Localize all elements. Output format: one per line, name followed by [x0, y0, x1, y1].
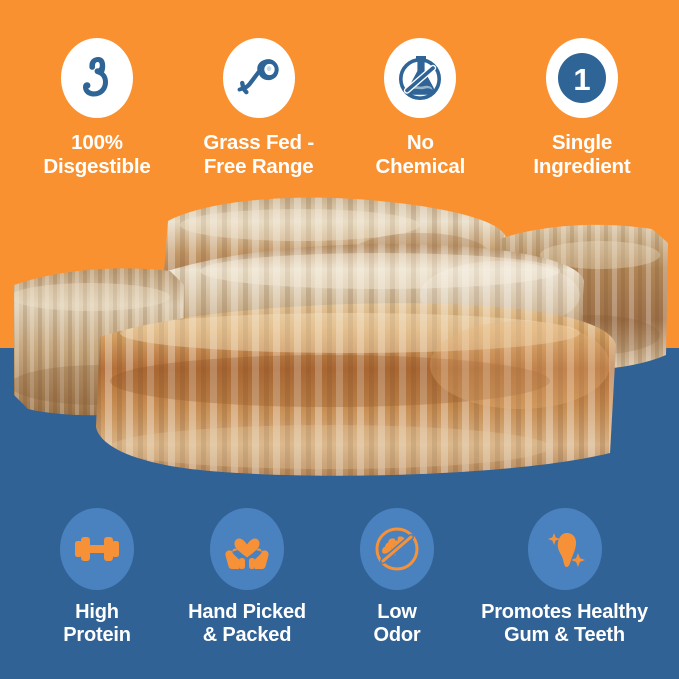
feature-label: Single Ingredient	[533, 131, 630, 179]
product-photo	[0, 185, 679, 505]
hands-heart-icon	[223, 526, 271, 572]
feature-no-chemical: No Chemical	[345, 38, 495, 179]
feature-hand-picked: Hand Picked & Packed	[172, 508, 322, 648]
stomach-icon	[75, 55, 119, 101]
ham-meat-icon	[236, 56, 282, 100]
badge-circle-blue	[210, 508, 284, 590]
feature-label: High Protein	[63, 601, 131, 648]
no-grain-odor-icon	[372, 524, 422, 574]
badge-circle-white	[223, 38, 295, 118]
feature-low-odor: Low Odor	[322, 508, 472, 648]
feature-label: Promotes Healthy Gum & Teeth	[481, 601, 648, 648]
feature-label: Hand Picked & Packed	[188, 601, 306, 648]
feature-high-protein: High Protein	[22, 508, 172, 648]
no-chemical-flask-icon	[397, 54, 443, 102]
feature-label: 100% Disgestible	[43, 131, 150, 179]
feature-label: No Chemical	[376, 131, 466, 179]
dumbbell-icon	[73, 532, 121, 566]
feature-digestible: 100% Disgestible	[22, 38, 172, 179]
chews-illustration	[0, 185, 679, 505]
feature-single-ingredient: 1 Single Ingredient	[507, 38, 657, 179]
badge-circle-white	[61, 38, 133, 118]
feature-label: Grass Fed - Free Range	[203, 131, 314, 179]
badge-circle-white	[384, 38, 456, 118]
badge-circle-blue	[60, 508, 134, 590]
sparkling-tooth-icon	[541, 525, 589, 573]
product-infographic: 100% Disgestible Grass Fed - Free Range	[0, 0, 679, 679]
feature-healthy-teeth: Promotes Healthy Gum & Teeth	[472, 508, 657, 648]
feature-label: Low Odor	[374, 601, 421, 648]
badge-circle-blue	[528, 508, 602, 590]
top-feature-row: 100% Disgestible Grass Fed - Free Range	[0, 38, 679, 179]
badge-circle-white: 1	[546, 38, 618, 118]
svg-text:1: 1	[573, 62, 590, 97]
badge-circle-blue	[360, 508, 434, 590]
bottom-feature-row: High Protein Hand Picked & Packed	[0, 508, 679, 648]
number-one-icon: 1	[557, 52, 607, 104]
feature-grass-fed: Grass Fed - Free Range	[184, 38, 334, 179]
